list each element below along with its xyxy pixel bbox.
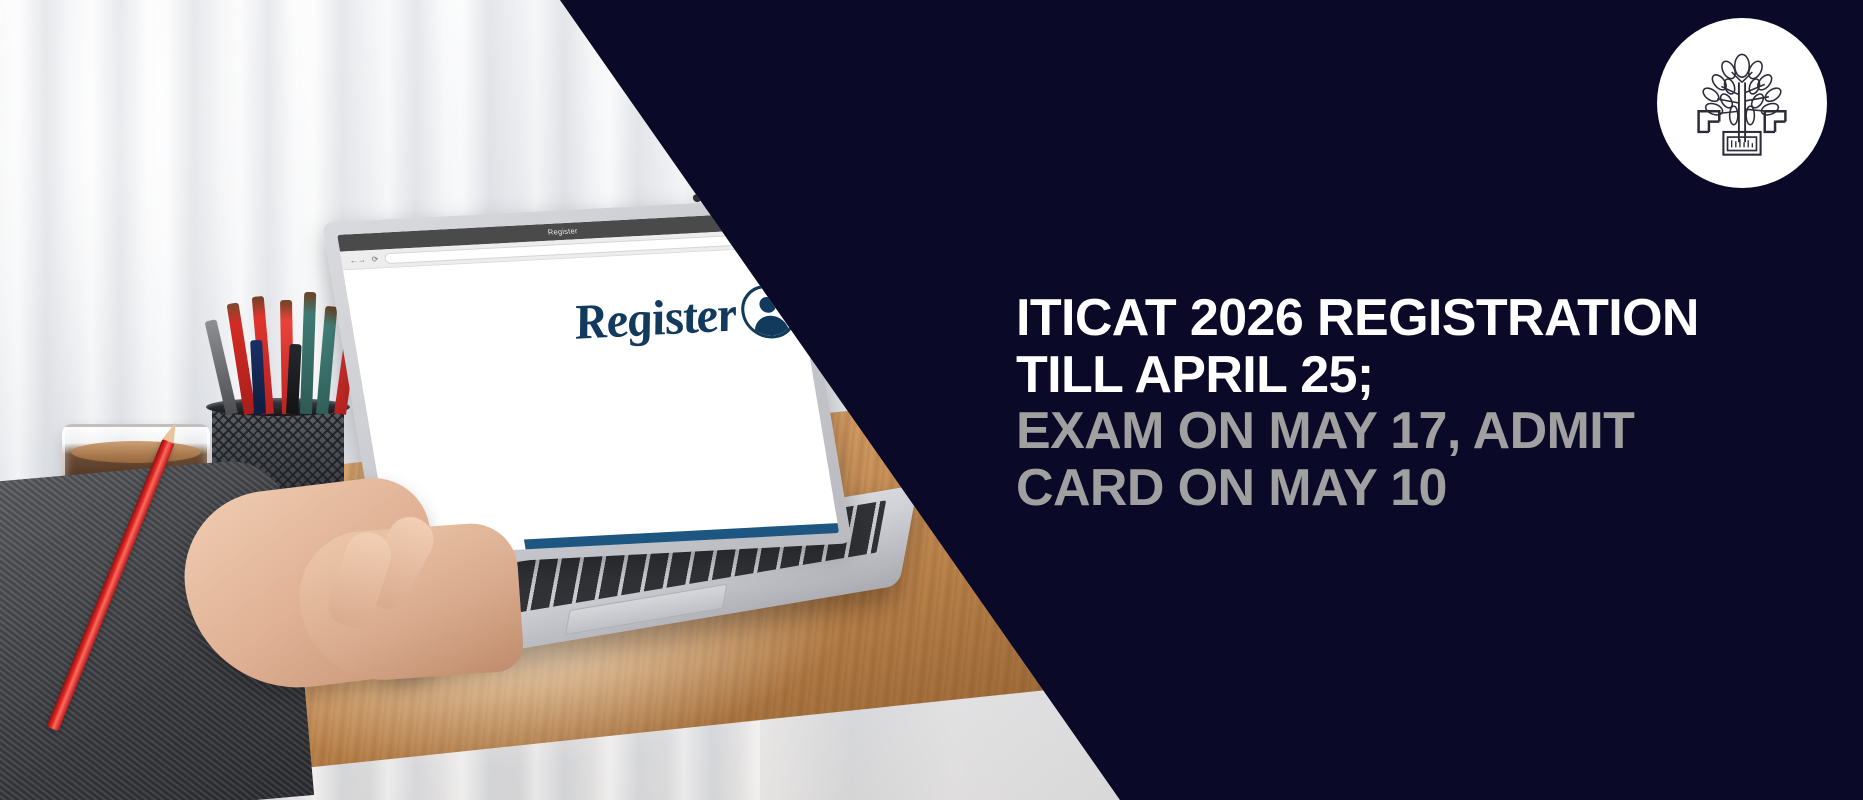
iticat-registration-banner: Register ←→ ⟳ Register (0, 0, 1863, 800)
reload-icon[interactable]: ⟳ (371, 254, 379, 263)
iti-ncvt-tree-emblem-logo (1657, 18, 1827, 188)
tree-emblem-icon (1680, 41, 1804, 165)
page-title: Register (569, 285, 741, 351)
page-hero: Register (343, 247, 812, 397)
headline-line-4: CARD ON MAY 10 (1016, 460, 1836, 517)
headline: ITICAT 2026 REGISTRATION TILL APRIL 25; … (1016, 290, 1836, 517)
coffee-crema (71, 441, 201, 463)
headline-line-1: ITICAT 2026 REGISTRATION (1016, 290, 1836, 347)
desk-laptop-photo: Register ←→ ⟳ Register (0, 0, 1120, 800)
back-forward-icon[interactable]: ←→ (349, 255, 367, 265)
headline-line-3: EXAM ON MAY 17, ADMIT (1016, 403, 1836, 460)
user-avatar-icon (737, 284, 800, 340)
headline-line-2: TILL APRIL 25; (1016, 347, 1836, 404)
browser-tab-title[interactable]: Register (547, 226, 578, 236)
